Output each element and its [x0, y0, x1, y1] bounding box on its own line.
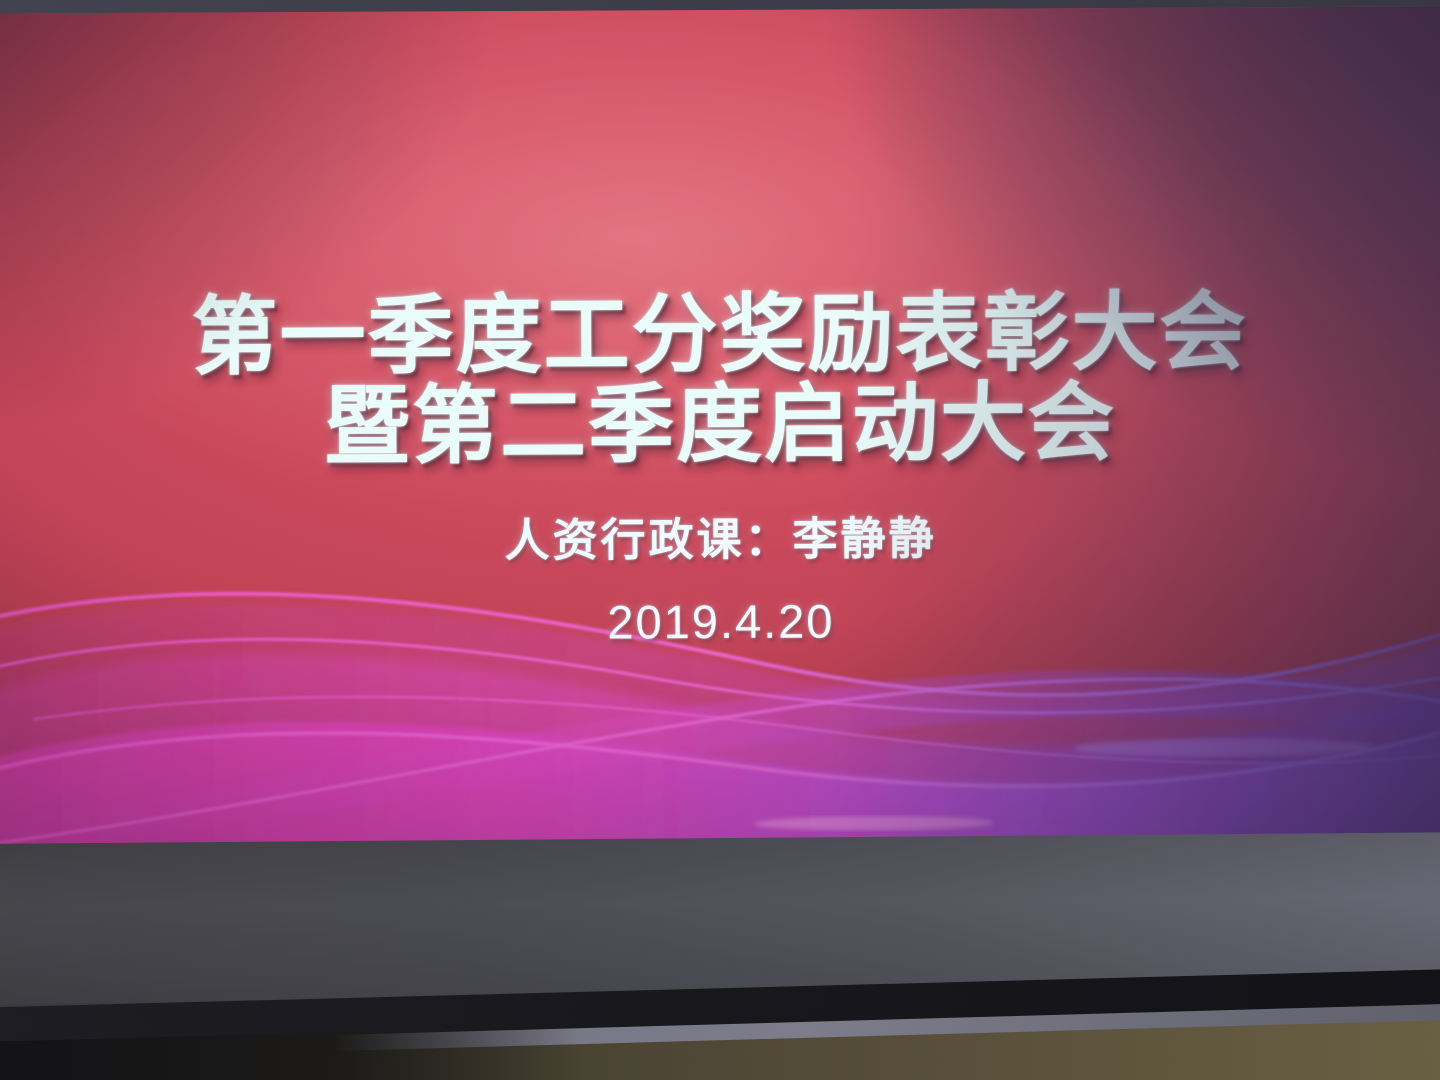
- photo-canvas: 第一季度工分奖励表彰大会 暨第二季度启动大会 人资行政课：李静静 2019.4.…: [0, 0, 1440, 1080]
- vignette-overall: [0, 6, 1440, 851]
- projection-screen: 第一季度工分奖励表彰大会 暨第二季度启动大会 人资行政课：李静静 2019.4.…: [0, 6, 1440, 851]
